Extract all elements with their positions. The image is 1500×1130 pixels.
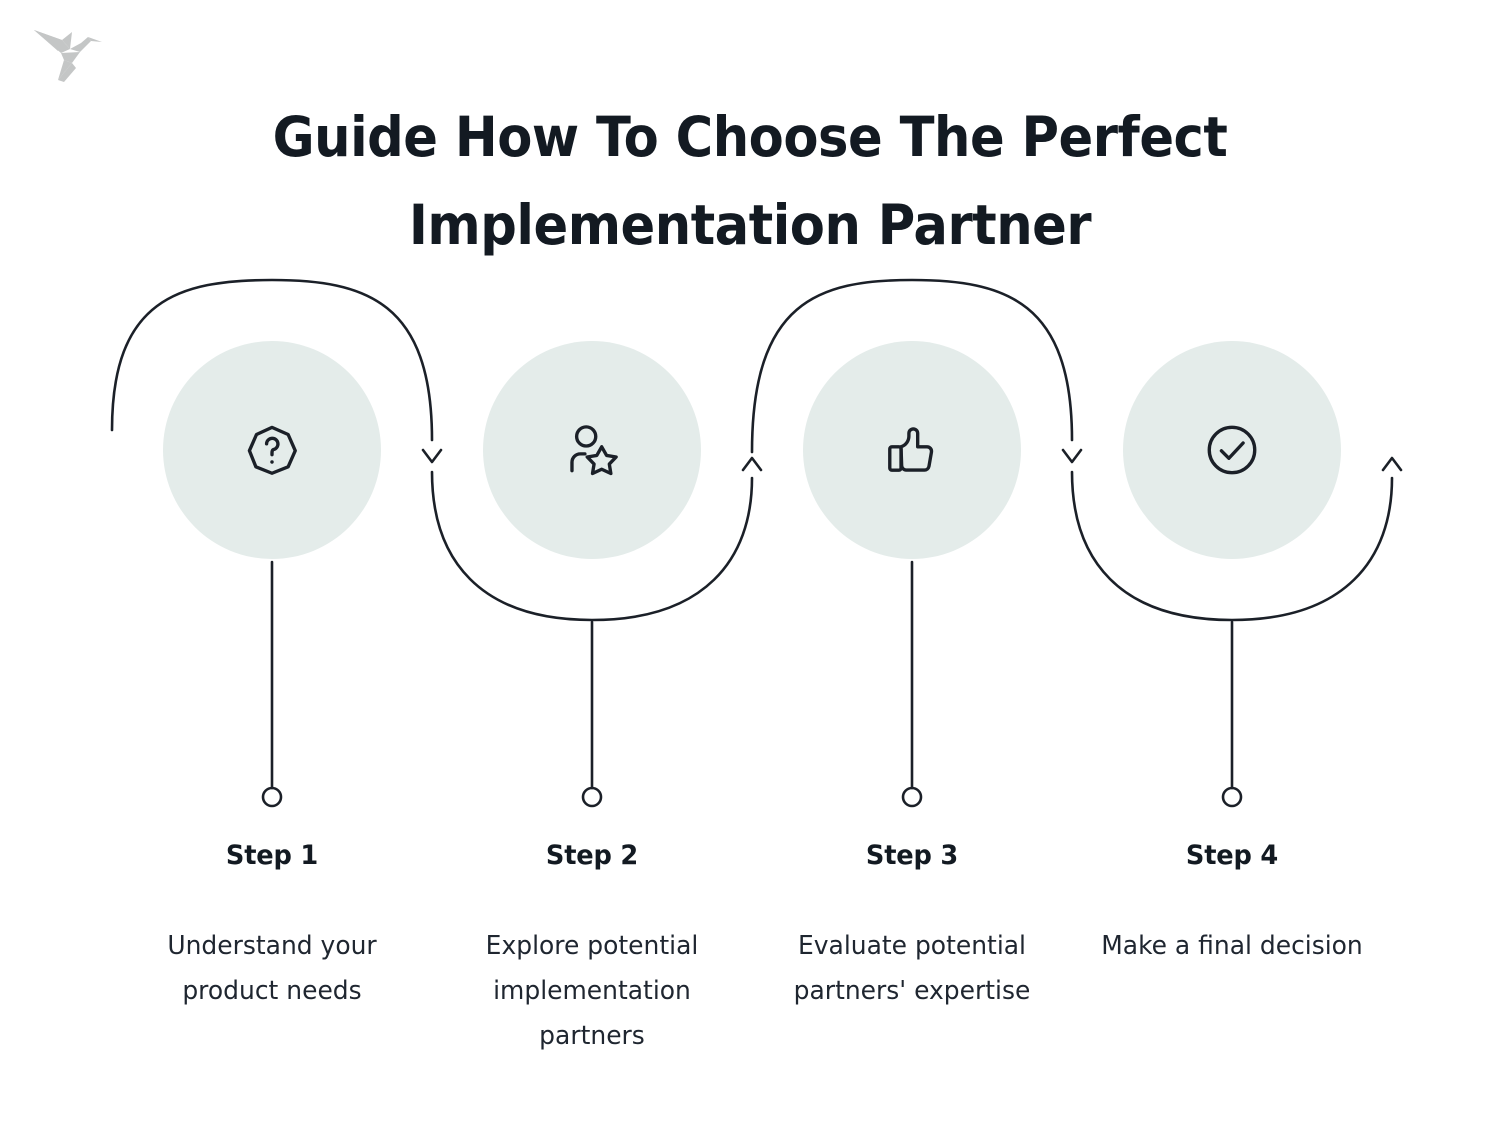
- check-circle-icon: [1201, 419, 1263, 481]
- question-mark-octagon-icon: [241, 419, 303, 481]
- user-star-icon: [561, 419, 623, 481]
- step-node-3[interactable]: [803, 341, 1021, 559]
- stem-dot-3: [903, 788, 921, 806]
- step-description-2: Explore potential implementation partner…: [448, 924, 736, 1059]
- arrow-up-end: [1383, 458, 1401, 470]
- origami-bird-logo: [28, 18, 112, 92]
- step-title-3: Step 3: [770, 840, 1055, 872]
- step-title-4: Step 4: [1090, 840, 1375, 872]
- arrow-down-1: [423, 450, 441, 462]
- step-title-1: Step 1: [130, 840, 415, 872]
- step-column-3: Step 3 Evaluate potential partners' expe…: [762, 840, 1062, 1014]
- thumbs-up-icon: [881, 419, 943, 481]
- step-column-4: Step 4 Make a final decision: [1082, 840, 1382, 969]
- step-description-4: Make a final decision: [1088, 924, 1376, 969]
- stem-dot-4: [1223, 788, 1241, 806]
- step-node-1[interactable]: [163, 341, 381, 559]
- step-column-2: Step 2 Explore potential implementation …: [442, 840, 742, 1059]
- stem-dot-2: [583, 788, 601, 806]
- step-column-1: Step 1 Understand your product needs: [122, 840, 422, 1014]
- page-title-line-2: Implementation Partner: [53, 181, 1448, 269]
- arrow-down-3: [1063, 450, 1081, 462]
- stem-dot-1: [263, 788, 281, 806]
- step-node-2[interactable]: [483, 341, 701, 559]
- step-title-2: Step 2: [450, 840, 735, 872]
- step-description-3: Evaluate potential partners' expertise: [768, 924, 1056, 1014]
- page-title: Guide How To Choose The Perfect Implemen…: [53, 93, 1448, 269]
- page-title-line-1: Guide How To Choose The Perfect: [53, 93, 1448, 181]
- step-description-1: Understand your product needs: [128, 924, 416, 1014]
- step-node-4[interactable]: [1123, 341, 1341, 559]
- arrow-up-2: [743, 458, 761, 470]
